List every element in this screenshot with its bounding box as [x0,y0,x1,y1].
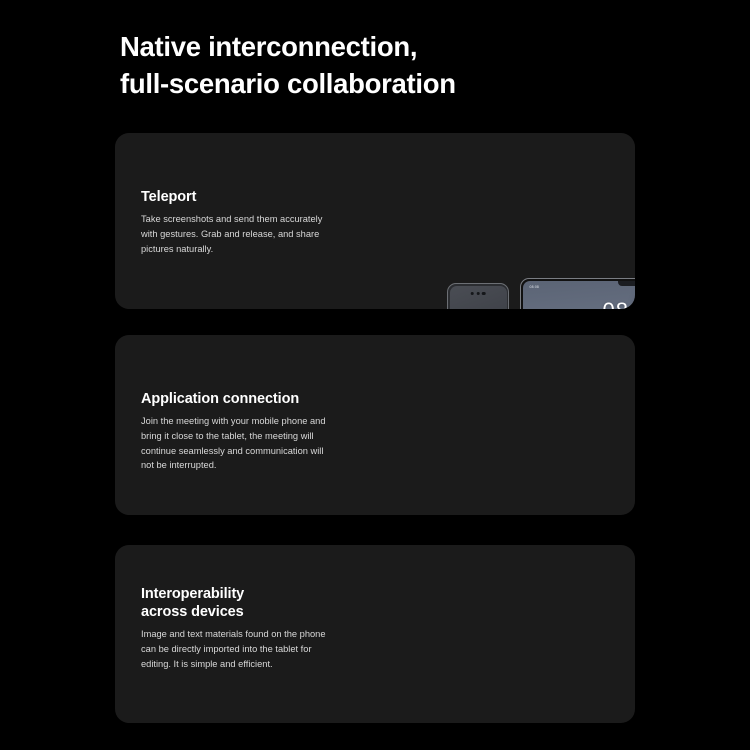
marketing-page: Native interconnection, full-scenario co… [0,0,750,750]
feature-card-teleport[interactable]: Teleport Take screenshots and send them … [115,133,635,309]
card-title-line1: Interoperability [141,586,244,602]
card-title: Application connection [141,390,331,408]
page-title-line1: Native interconnection, [120,31,417,62]
page-title-line2: full-scenario collaboration [120,65,680,102]
status-time: 08:08 [530,285,540,291]
tablet-screen: 08:08 100% 08:08 14时08分 星期二 · 农历 5 [523,281,636,310]
page-title: Native interconnection, full-scenario co… [120,28,680,103]
lockscreen-clock: 08:08 [602,298,635,310]
card-description: Take screenshots and send them accuratel… [141,212,331,256]
card-title: Interoperability across devices [141,585,331,621]
card-title-line2: across devices [141,604,244,620]
card-description: Image and text materials found on the ph… [141,627,331,671]
card-description: Join the meeting with your mobile phone … [141,414,331,473]
card-title: Teleport [141,188,331,206]
camera-dots-icon [471,292,486,295]
feature-card-application-connection[interactable]: Application connection Join the meeting … [115,335,635,515]
card-text-block: Application connection Join the meeting … [141,390,331,473]
phone-screen [450,286,507,310]
phone-device[interactable] [447,283,509,309]
tablet-device[interactable]: 08:08 100% 08:08 14时08分 星期二 · 农历 5 [520,278,635,309]
card-text-block: Interoperability across devices Image an… [141,585,331,671]
card-text-block: Teleport Take screenshots and send them … [141,188,331,256]
status-bar: 08:08 100% [523,285,636,291]
feature-card-interoperability[interactable]: Interoperability across devices Image an… [115,545,635,723]
